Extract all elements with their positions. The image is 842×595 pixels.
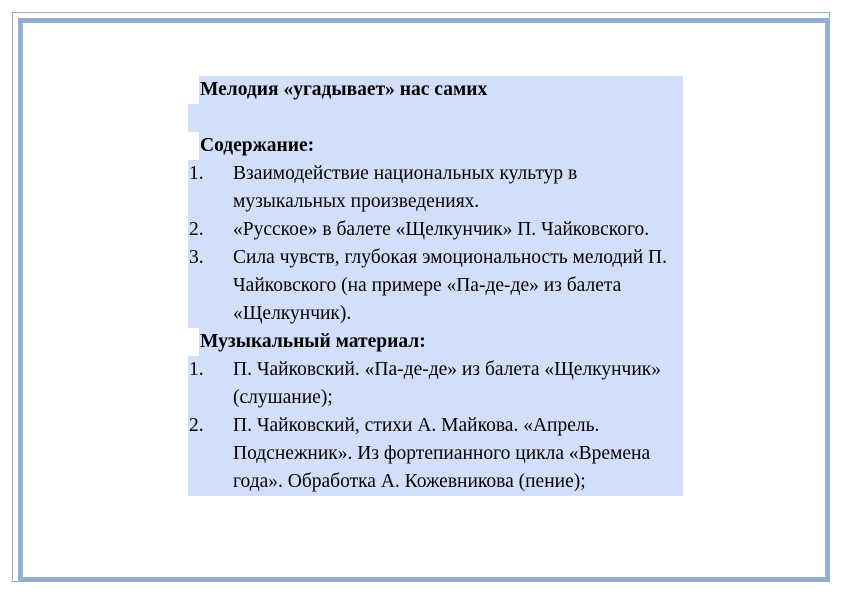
list-marker: 2. xyxy=(189,412,233,440)
list-item-text: «Русское» в балете «Щелкунчик» П. Чайков… xyxy=(233,216,683,244)
section-heading-row-contents: Содержание: xyxy=(188,132,683,160)
list-marker: 3. xyxy=(189,244,233,272)
contents-heading-left-notch xyxy=(188,132,199,160)
material-heading-left-notch xyxy=(188,328,199,356)
slide-title-row: Мелодия «угадывает» нас самих xyxy=(188,76,683,104)
section-heading-material: Музыкальный материал: xyxy=(199,328,683,356)
material-list: 1. П. Чайковский. «Па-де-де» из балета «… xyxy=(188,356,683,496)
list-item-text: П. Чайковский. «Па-де-де» из балета «Щел… xyxy=(233,356,683,412)
list-item: 2. П. Чайковский, стихи А. Майкова. «Апр… xyxy=(188,412,683,496)
slide-body: Мелодия «угадывает» нас самих Содержание… xyxy=(23,23,825,577)
list-item-text: Сила чувств, глубокая эмоциональность ме… xyxy=(233,244,683,328)
list-item-text: П. Чайковский, стихи А. Майкова. «Апрель… xyxy=(233,412,683,496)
list-item-text: Взаимодействие национальных культур в му… xyxy=(233,160,683,216)
list-marker: 1. xyxy=(189,160,233,188)
list-marker: 2. xyxy=(189,216,233,244)
list-item: 1. П. Чайковский. «Па-де-де» из балета «… xyxy=(188,356,683,412)
contents-list: 1. Взаимодействие национальных культур в… xyxy=(188,160,683,328)
list-item: 2. «Русское» в балете «Щелкунчик» П. Чай… xyxy=(188,216,683,244)
section-heading-row-material: Музыкальный материал: xyxy=(188,328,683,356)
list-marker: 1. xyxy=(189,356,233,384)
slide-content-block: Мелодия «угадывает» нас самих Содержание… xyxy=(188,76,683,496)
list-item: 1. Взаимодействие национальных культур в… xyxy=(188,160,683,216)
section-heading-contents: Содержание: xyxy=(199,132,683,160)
title-spacer xyxy=(188,104,683,132)
title-left-notch xyxy=(188,76,199,104)
slide-title: Мелодия «угадывает» нас самих xyxy=(199,76,683,104)
list-item: 3. Сила чувств, глубокая эмоциональность… xyxy=(188,244,683,328)
